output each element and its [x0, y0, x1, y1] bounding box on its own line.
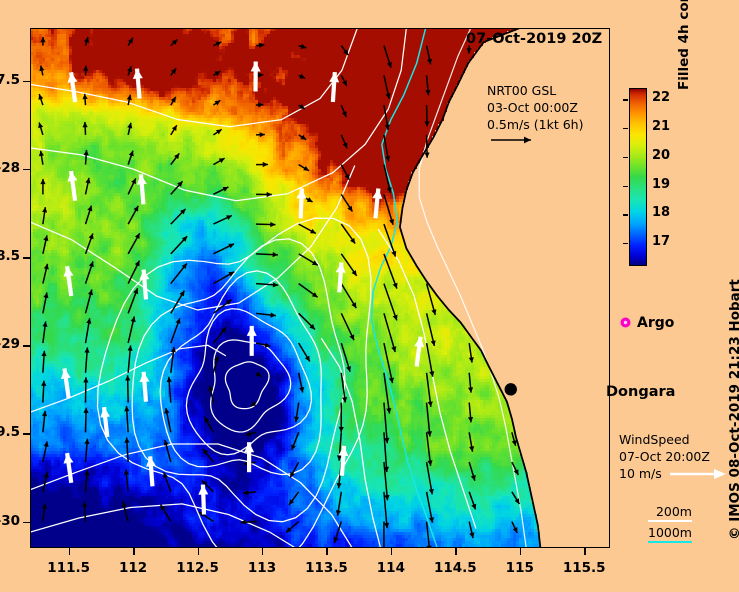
current-vector-arrow	[424, 152, 429, 157]
colorbar-tick-label: 21	[652, 119, 670, 134]
x-axis-tick	[326, 548, 327, 555]
current-vector-arrow	[83, 377, 88, 382]
ssh-contour-closed	[98, 218, 371, 548]
current-vector-arrow	[84, 347, 89, 352]
y-axis-tick	[23, 522, 30, 523]
argo-marker-icon	[620, 317, 631, 328]
colorbar-tick	[623, 157, 628, 158]
current-vector-arrow	[128, 345, 133, 350]
current-vector-arrow	[164, 408, 169, 414]
current-vector-arrow	[127, 66, 132, 72]
current-vector-arrow	[82, 502, 87, 507]
y-axis-tick	[23, 81, 30, 82]
wind-legend-line3: 10 m/s	[619, 465, 662, 482]
colorbar-tick-label: 22	[652, 90, 670, 105]
currents-legend-line1: NRT00 GSL	[487, 82, 583, 99]
current-vector-arrow	[270, 222, 275, 227]
bathymetry-legend: 200m 1000m	[648, 503, 692, 543]
y-axis-tick-label: -28.5	[0, 248, 20, 264]
current-vector-arrow	[384, 313, 395, 352]
bathymetry-1000m-label: 1000m	[648, 524, 692, 541]
current-vector-arrow	[273, 252, 278, 257]
bathymetry-200m-label: 200m	[648, 503, 692, 520]
x-axis-tick	[198, 548, 199, 555]
current-vector-arrow	[89, 261, 94, 267]
wind-scale-arrow-icon	[668, 467, 730, 481]
wind-vector-arrow	[296, 188, 306, 198]
current-vector-arrow	[258, 102, 263, 107]
current-vector-arrow	[85, 178, 90, 184]
current-scale-arrow-icon	[487, 133, 547, 147]
current-vector-arrow	[387, 187, 392, 193]
y-axis-tick-label: -30	[0, 513, 20, 529]
current-vector-arrow	[467, 48, 472, 53]
current-vector-arrow	[131, 316, 136, 322]
colorbar-tick-label: 19	[652, 177, 670, 192]
x-axis-tick	[262, 548, 263, 555]
x-axis-tick-label: 115	[490, 560, 550, 576]
current-vector-arrow	[263, 162, 268, 167]
y-axis-tick-label: -29	[0, 336, 20, 352]
colorbar[interactable]	[629, 88, 647, 266]
current-vector-arrow	[389, 377, 394, 383]
current-vector-arrow	[333, 537, 338, 543]
current-vector-arrow	[84, 150, 89, 155]
current-vector-arrow	[427, 59, 432, 65]
current-vector-arrow	[44, 264, 49, 270]
wind-vector-arrow	[329, 72, 339, 82]
dongara-city-label: Dongara	[606, 384, 675, 400]
y-axis-tick	[23, 169, 30, 170]
colorbar-tick	[623, 186, 628, 187]
colorbar-tick	[623, 214, 628, 215]
ssh-contour-open	[30, 444, 352, 548]
current-vector-arrow	[299, 387, 304, 393]
current-vector-arrow	[468, 387, 473, 392]
dongara-marker-icon	[505, 383, 517, 395]
y-axis-tick-label: -28	[0, 160, 20, 176]
current-vector-arrow	[424, 121, 429, 126]
current-vector-arrow	[127, 123, 132, 129]
bathymetry-1000m-swatch	[648, 541, 692, 543]
wind-legend: WindSpeed 07-Oct 20:00Z 10 m/s	[619, 431, 730, 482]
wind-vector-arrow	[133, 69, 143, 79]
current-vector-arrow	[83, 122, 88, 127]
current-vector-arrow	[167, 377, 172, 382]
x-axis-tick	[520, 548, 521, 555]
current-vector-arrow	[469, 532, 474, 538]
ssh-contour-open	[30, 28, 357, 127]
x-axis-tick-label: 115.5	[554, 560, 614, 576]
wind-vector-arrow	[247, 326, 257, 336]
ssh-contour-open	[30, 504, 296, 548]
current-vector-arrow	[124, 406, 129, 411]
current-vector-arrow	[429, 371, 434, 377]
y-axis-tick-label: -27.5	[0, 72, 20, 88]
current-vector-arrow	[82, 94, 87, 99]
current-vector-arrow	[265, 343, 271, 348]
current-vector-arrow	[425, 90, 430, 95]
current-vector-arrow	[127, 95, 132, 101]
colorbar-tick	[623, 243, 628, 244]
current-vector-arrow	[339, 427, 344, 432]
colorbar-tick-label: 18	[652, 205, 670, 220]
currents-legend-line2: 03-Oct 00:00Z	[487, 99, 583, 116]
x-axis-tick-label: 112	[103, 560, 163, 576]
current-vector-arrow	[468, 417, 473, 422]
colorbar-tick-label: 17	[652, 234, 670, 249]
bathymetry-200m-swatch	[648, 520, 692, 522]
colorbar-tick-label: 20	[652, 148, 670, 163]
current-vector-arrow	[39, 66, 44, 72]
map-figure: 111.5112112.5113113.5114114.5115115.5-27…	[0, 0, 739, 592]
current-vector-arrow	[384, 254, 397, 289]
y-axis-tick-label: -29.5	[0, 424, 20, 440]
current-vector-arrow	[41, 381, 46, 386]
current-vector-arrow	[83, 408, 88, 413]
current-vector-arrow	[386, 93, 391, 99]
current-vector-arrow	[393, 315, 398, 321]
x-axis-tick-label: 113	[232, 560, 292, 576]
argo-legend-label: Argo	[637, 315, 674, 331]
x-axis-tick	[455, 548, 456, 555]
current-vector-arrow	[429, 517, 434, 523]
wind-vector-arrow	[139, 270, 149, 280]
x-axis-tick-label: 111.5	[39, 560, 99, 576]
current-vector-arrow	[124, 437, 129, 442]
colorbar-label: Filled 4h comp, p50, All Sats	[676, 0, 692, 90]
x-axis-tick-label: 112.5	[168, 560, 228, 576]
y-axis-tick	[23, 433, 30, 434]
current-vector-arrow	[83, 66, 88, 71]
ssh-contour-closed	[132, 239, 345, 522]
current-vector-arrow	[44, 441, 49, 447]
current-vector-arrow	[384, 523, 389, 528]
y-axis-tick	[23, 345, 30, 346]
page-title: 07-Oct-2019 20Z	[466, 31, 602, 47]
current-vector-arrow	[84, 439, 89, 444]
current-vector-arrow	[427, 545, 432, 548]
x-axis-tick	[69, 548, 70, 555]
currents-legend: NRT00 GSL 03-Oct 00:00Z 0.5m/s (1kt 6h)	[487, 82, 583, 151]
current-vector-arrow	[38, 94, 43, 100]
x-axis-tick-label: 114	[361, 560, 421, 576]
current-vector-arrow	[84, 470, 89, 475]
wind-vector-arrow	[372, 189, 382, 199]
current-vector-arrow	[41, 351, 46, 356]
current-vector-arrow	[384, 284, 397, 321]
currents-legend-line3: 0.5m/s (1kt 6h)	[487, 116, 583, 133]
x-axis-tick-label: 113.5	[296, 560, 356, 576]
copyright-notice: © IMOS 08-Oct-2019 21:23 Hobart	[727, 279, 739, 540]
ssh-contour-open	[30, 28, 406, 201]
wind-legend-line1: WindSpeed	[619, 431, 730, 448]
x-axis-tick-label: 114.5	[425, 560, 485, 576]
colorbar-tick	[623, 99, 628, 100]
current-vector-arrow	[43, 235, 48, 241]
current-vector-arrow	[40, 179, 45, 184]
wind-vector-arrow	[137, 174, 147, 184]
x-axis-tick	[391, 548, 392, 555]
current-vector-arrow	[260, 132, 265, 137]
current-vector-arrow	[129, 151, 134, 157]
current-vector-arrow	[40, 37, 45, 42]
current-vector-arrow	[125, 375, 130, 380]
wind-vector-arrow	[336, 262, 346, 272]
wind-vector-arrow	[139, 372, 149, 382]
wind-vector-arrow	[251, 61, 261, 71]
current-vector-arrow	[43, 292, 48, 298]
ssh-contour-closed	[225, 362, 269, 409]
wind-legend-line2: 07-Oct 20:00Z	[619, 448, 730, 465]
ssh-contour-open	[321, 338, 380, 548]
y-axis-tick	[23, 257, 30, 258]
wind-vector-arrow	[146, 456, 156, 466]
current-vector-arrow	[124, 469, 129, 474]
colorbar-tick	[623, 128, 628, 129]
x-axis-tick	[133, 548, 134, 555]
current-vector-arrow	[273, 282, 278, 287]
x-axis-tick	[584, 548, 585, 555]
